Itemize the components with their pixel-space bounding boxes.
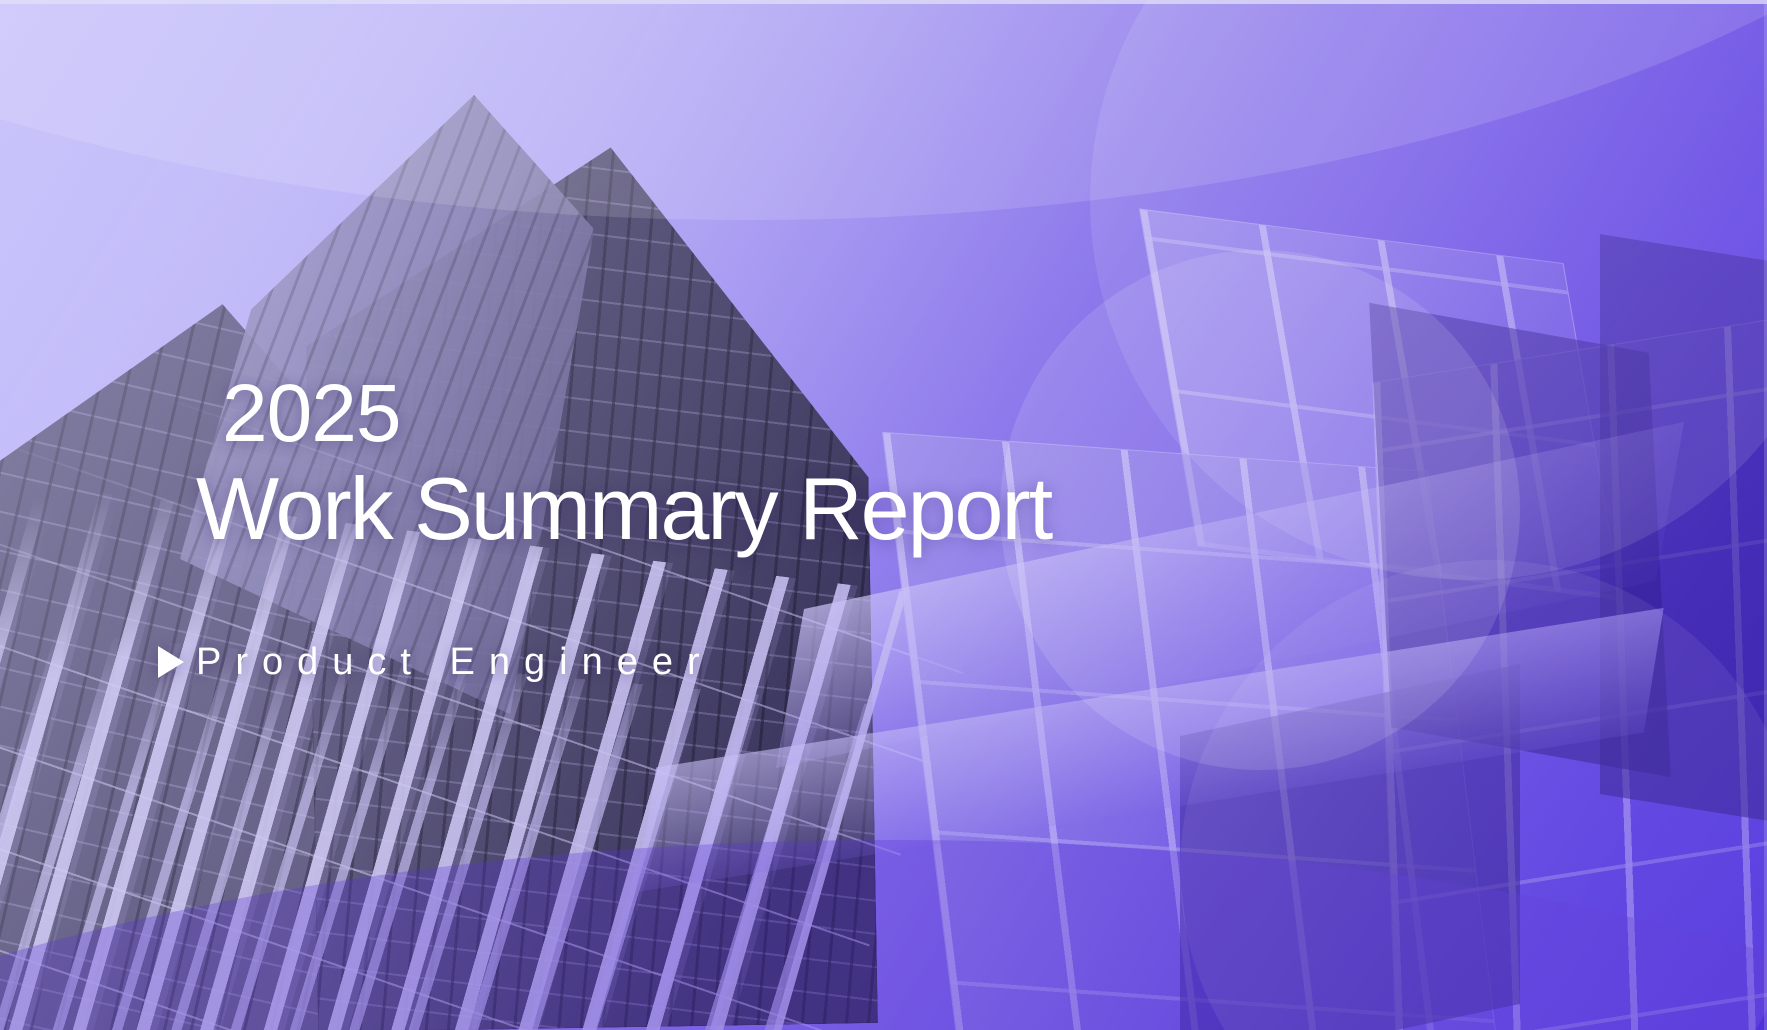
- year-label: 2025: [222, 372, 1051, 456]
- subtitle-label: Product Engineer: [196, 642, 714, 682]
- presentation-slide: 2025 Work Summary Report Product Enginee…: [0, 0, 1767, 1030]
- subtitle-row: Product Engineer: [158, 642, 1051, 682]
- title-block: 2025 Work Summary Report Product Enginee…: [196, 372, 1051, 682]
- play-triangle-icon: [158, 646, 184, 678]
- top-edge-highlight: [0, 0, 1767, 4]
- page-title: Work Summary Report: [196, 462, 1051, 556]
